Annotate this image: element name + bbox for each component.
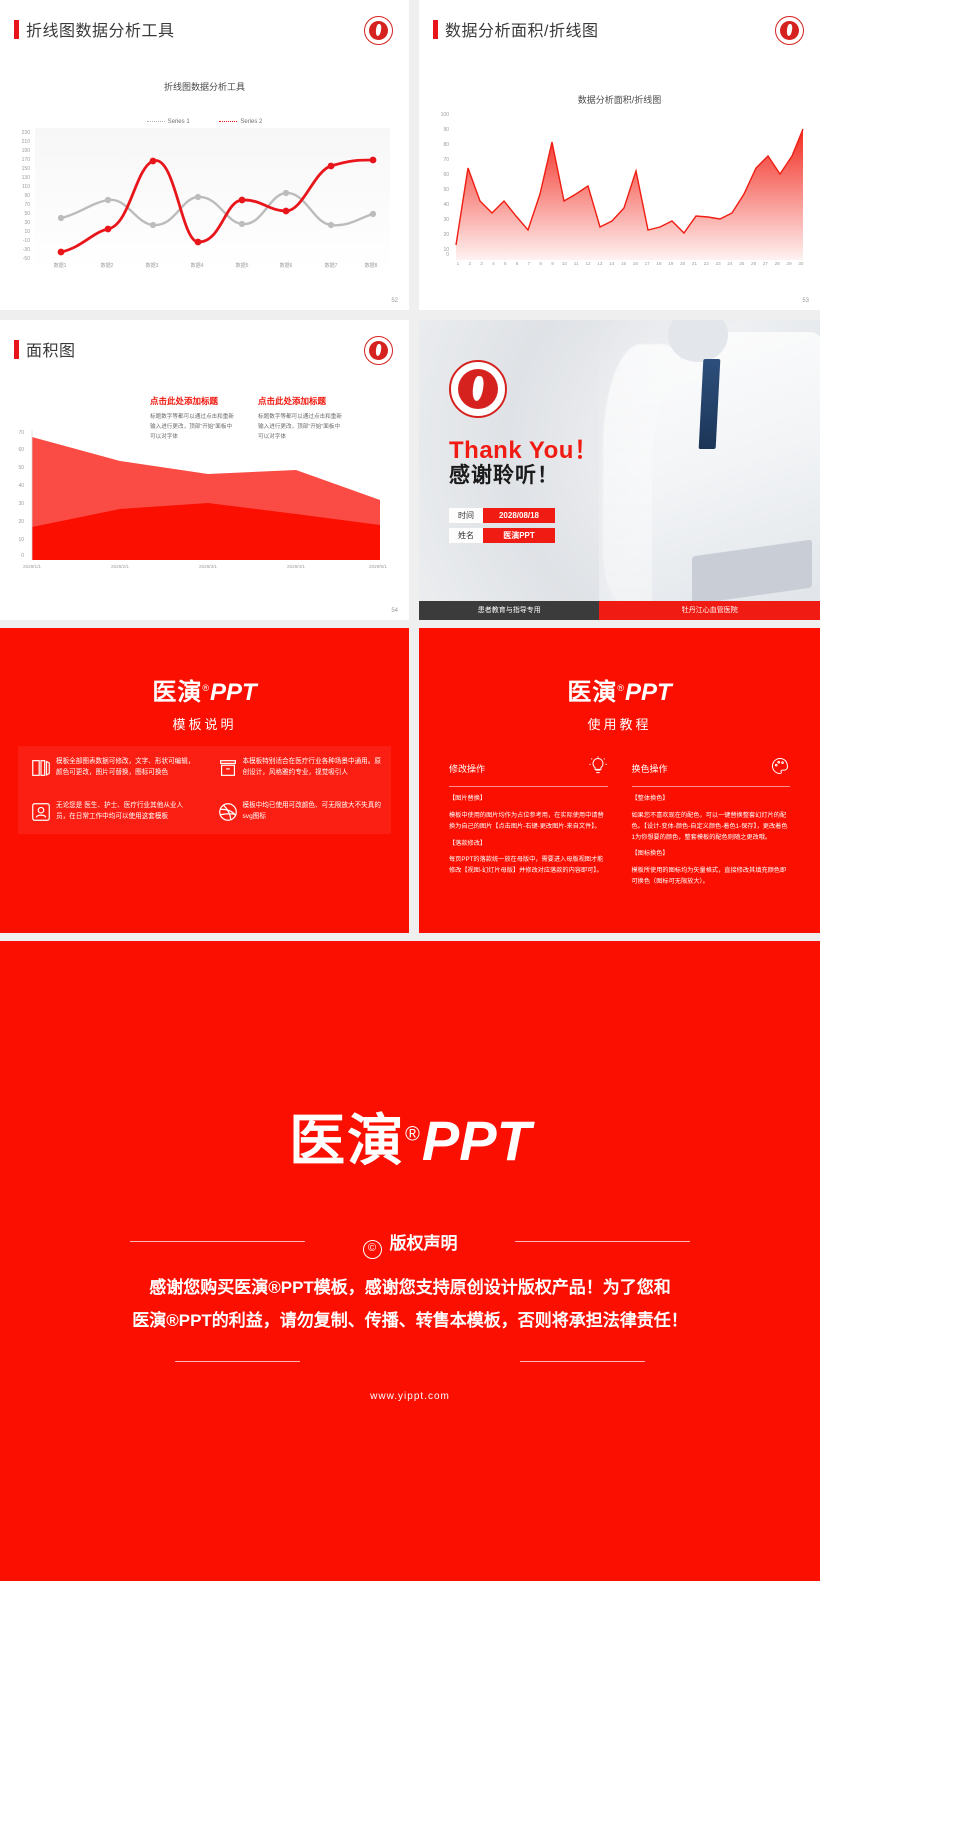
slide-subtitle: 模板说明 — [0, 714, 409, 733]
palette-icon — [770, 756, 790, 781]
slide2-header: 数据分析面积/折线图 — [419, 0, 820, 48]
field-row-name: 姓名医演PPT — [449, 528, 555, 543]
right-margin — [820, 0, 960, 1840]
feature-card[interactable]: 无论您是 医生、护士、医疗行业其他从业人员，在日常工作中均可以使用这套模板 — [18, 790, 205, 834]
title-tick-bar — [14, 340, 19, 359]
brand-logo-text: 医演®PPT — [419, 672, 820, 707]
area-chart-plot — [452, 112, 807, 260]
hospital-logo-icon — [449, 360, 507, 418]
section-paragraph: 【落款修改】 — [449, 839, 608, 850]
legend-item-series2: Series 2 — [219, 119, 262, 125]
feature-card-grid: 模板全部图表数据可修改，文字、形状可编辑，颜色可更改，图片可替换，图标可换色 本… — [18, 746, 391, 834]
brand-logo-text: 医演®PPT — [0, 672, 409, 707]
thank-you-chinese: 感谢聆听！ — [449, 459, 559, 489]
title-tick-bar — [14, 20, 19, 39]
divider-bottom-right — [520, 1361, 645, 1362]
title-tick-bar — [433, 20, 438, 39]
slide1-header: 折线图数据分析工具 — [0, 0, 409, 48]
stacked-area-plot — [28, 430, 383, 560]
chart-title: 折线图数据分析工具 — [0, 80, 409, 93]
chart-title: 数据分析面积/折线图 — [419, 93, 820, 106]
section-body: 【图片替换】 模板中使用的图片均作为占位参考用，在实际使用中请替换为自己的图片【… — [449, 794, 608, 877]
footer-right-label: 牡丹江心血管医院 — [599, 601, 820, 620]
feature-card-text: 模板全部图表数据可修改，文字、形状可编辑，颜色可更改，图片可替换，图标可换色 — [56, 757, 195, 779]
section-heading: 修改操作 — [449, 762, 485, 775]
tutorial-section-recolor[interactable]: 换色操作 【整体换色】 如果您不喜欢现在的配色，可以一键替换整套幻灯片的配色。【… — [620, 746, 803, 904]
copyright-body: 感谢您购买医演®PPT模板，感谢您支持原创设计版权产品！为了您和 医演®PPT的… — [90, 1271, 730, 1337]
section-paragraph: 【图片替换】 — [449, 794, 608, 805]
field-label-time: 时间 — [449, 508, 483, 523]
slide-page-number: 53 — [802, 298, 809, 304]
website-url: www.yippt.com — [0, 1391, 820, 1402]
section-paragraph: 如果您不喜欢现在的配色，可以一键替换整套幻灯片的配色。【设计-变体-颜色-自定义… — [632, 811, 791, 844]
book-icon — [26, 757, 56, 779]
copyright-mark-icon: © — [363, 1240, 382, 1259]
feature-card[interactable]: 模板全部图表数据可修改，文字、形状可编辑，颜色可更改，图片可替换，图标可换色 — [18, 746, 205, 790]
section-paragraph: 模板中使用的图片均作为占位参考用，在实际使用中请替换为自己的图片【点击图片-右键… — [449, 811, 608, 833]
page-title: 折线图数据分析工具 — [26, 17, 175, 41]
hospital-logo-icon — [775, 16, 804, 45]
page-title: 数据分析面积/折线图 — [445, 17, 598, 41]
bottom-margin — [0, 1581, 960, 1840]
hospital-logo-icon — [364, 336, 393, 365]
box-icon — [213, 757, 243, 779]
feature-card[interactable]: 模板中均已使用可改颜色、可无限放大不失真的svg图标 — [205, 790, 392, 834]
footer-left-label: 患者教育与指导专用 — [419, 601, 599, 620]
tutorial-section-grid: 修改操作 【图片替换】 模板中使用的图片均作为占位参考用，在实际使用中请替换为自… — [437, 746, 802, 904]
divider-bottom-left — [175, 1361, 300, 1362]
field-value-time[interactable]: 2028/08/18 — [483, 508, 555, 523]
copyright-title: 版权声明 — [390, 1234, 458, 1253]
slide-area-chart[interactable]: 面积图 点击此处添加标题 标题数字等都可以通过点击和重新输入进行更改，顶部“开始… — [0, 320, 409, 620]
copyright-line-2: 医演®PPT的利益，请勿复制、传播、转售本模板，否则将承担法律责任！ — [90, 1304, 730, 1337]
slide-copyright[interactable]: 医演®PPT ©版权声明 感谢您购买医演®PPT模板，感谢您支持原创设计版权产品… — [0, 941, 820, 1581]
feature-card-text: 本模板特别适合在医疗行业各种场景中通用。原创设计，风格雅约专业，视觉吸引人 — [243, 757, 382, 779]
section-paragraph: 模板所使用的图标均为矢量格式，直接修改其填充颜色即可换色（图标可无限放大）。 — [632, 866, 791, 888]
slide-line-chart[interactable]: 折线图数据分析工具 折线图数据分析工具 Series 1 Series 2 23… — [0, 0, 409, 310]
slide-page-number: 52 — [391, 298, 398, 304]
section-paragraph: 每页PPT的落款统一放在母版中，需要进入母版视图才能修改【视图-幻灯片母版】并修… — [449, 855, 608, 877]
section-header: 换色操作 — [632, 756, 791, 787]
slide3-header: 面积图 — [0, 320, 409, 368]
slide-area-line-chart[interactable]: 数据分析面积/折线图 数据分析面积/折线图 100 90 80 70 60 50… — [419, 0, 820, 310]
feature-card-text: 模板中均已使用可改颜色、可无限放大不失真的svg图标 — [243, 801, 382, 823]
feature-card-text: 无论您是 医生、护士、医疗行业其他从业人员，在日常工作中均可以使用这套模板 — [56, 801, 195, 823]
slide-thank-you[interactable]: Thank You！ 感谢聆听！ 时间2028/08/18 姓名医演PPT 患者… — [419, 320, 820, 620]
chart2-x-axis: 1 2 3 4 5 6 7 8 9 10 11 12 13 14 15 16 1… — [452, 261, 807, 266]
dribbble-icon — [213, 801, 243, 823]
field-row-time: 时间2028/08/18 — [449, 508, 555, 523]
tutorial-section-edit[interactable]: 修改操作 【图片替换】 模板中使用的图片均作为占位参考用，在实际使用中请替换为自… — [437, 746, 620, 904]
field-value-name[interactable]: 医演PPT — [483, 528, 555, 543]
section-body: 【整体换色】 如果您不喜欢现在的配色，可以一键替换整套幻灯片的配色。【设计-变体… — [632, 794, 791, 888]
section-heading: 换色操作 — [632, 762, 668, 775]
legend-item-series1: Series 1 — [147, 119, 190, 125]
slide-subtitle: 使用教程 — [419, 714, 820, 733]
page-title: 面积图 — [26, 337, 76, 361]
chart-legend: Series 1 Series 2 — [0, 119, 409, 125]
slide-footer-bar: 患者教育与指导专用 牡丹江心血管医院 — [419, 601, 820, 620]
slide-usage-tutorial[interactable]: 医演®PPT 使用教程 修改操作 【图片替换】 — [419, 628, 820, 933]
bulb-icon — [588, 756, 608, 781]
section-header: 修改操作 — [449, 756, 608, 787]
copyright-title-row: ©版权声明 — [0, 1229, 820, 1259]
brand-logo-text-large: 医演®PPT — [0, 1096, 820, 1177]
section-paragraph: 【图标换色】 — [632, 849, 791, 860]
slide-page-number: 54 — [391, 608, 398, 614]
section-paragraph: 【整体换色】 — [632, 794, 791, 805]
slide-template-description[interactable]: 医演®PPT 模板说明 模板全部图表数据可修改，文字、形状可编辑，颜色可更改，图… — [0, 628, 409, 933]
block-heading: 点击此处添加标题 — [258, 395, 343, 407]
slide-deck-preview: 折线图数据分析工具 折线图数据分析工具 Series 1 Series 2 23… — [0, 0, 960, 1840]
feature-card[interactable]: 本模板特别适合在医疗行业各种场景中通用。原创设计，风格雅约专业，视觉吸引人 — [205, 746, 392, 790]
block-heading: 点击此处添加标题 — [150, 395, 235, 407]
copyright-line-1: 感谢您购买医演®PPT模板，感谢您支持原创设计版权产品！为了您和 — [90, 1271, 730, 1304]
user-icon — [26, 801, 56, 823]
line-chart-plot — [35, 128, 390, 273]
field-label-name: 姓名 — [449, 528, 483, 543]
hospital-logo-icon — [364, 16, 393, 45]
